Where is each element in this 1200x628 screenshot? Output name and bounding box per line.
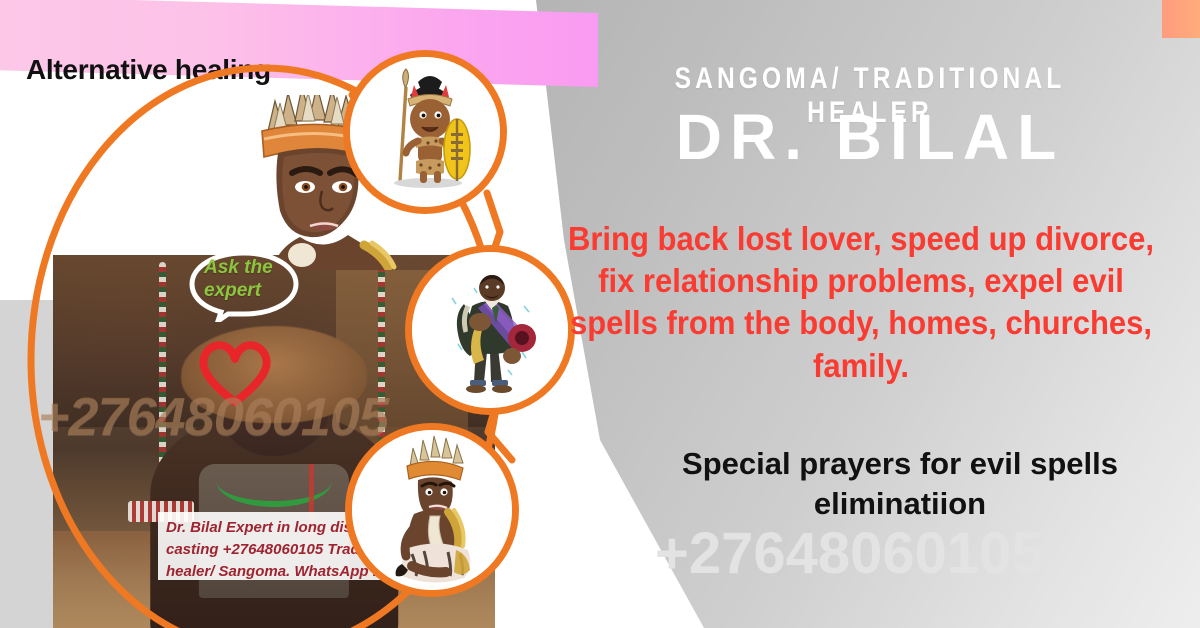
services-text: Bring back lost lover, speed up divorce,…: [556, 218, 1167, 387]
phone-watermark: +27648060105: [655, 520, 1200, 587]
tagline-alternative-healing: Alternative healing: [26, 54, 271, 86]
circle-zulu-warrior: [350, 57, 500, 207]
circle-crouching-healer: [352, 430, 512, 590]
gray-left-strip: [0, 300, 54, 628]
bubble-line-2: expert: [204, 279, 300, 302]
bubble-line-1: Ask the: [204, 256, 300, 279]
poster-canvas: Alternative healing: [0, 0, 1200, 628]
special-prayers-text: Special prayers for evil spells eliminat…: [600, 444, 1200, 523]
brand-name-dr-bilal: DR. BILAL: [560, 104, 1180, 171]
orange-top-band: [1162, 0, 1200, 38]
circle-traveling-healer: [412, 252, 568, 408]
ask-the-expert-text: Ask the expert: [204, 256, 300, 302]
